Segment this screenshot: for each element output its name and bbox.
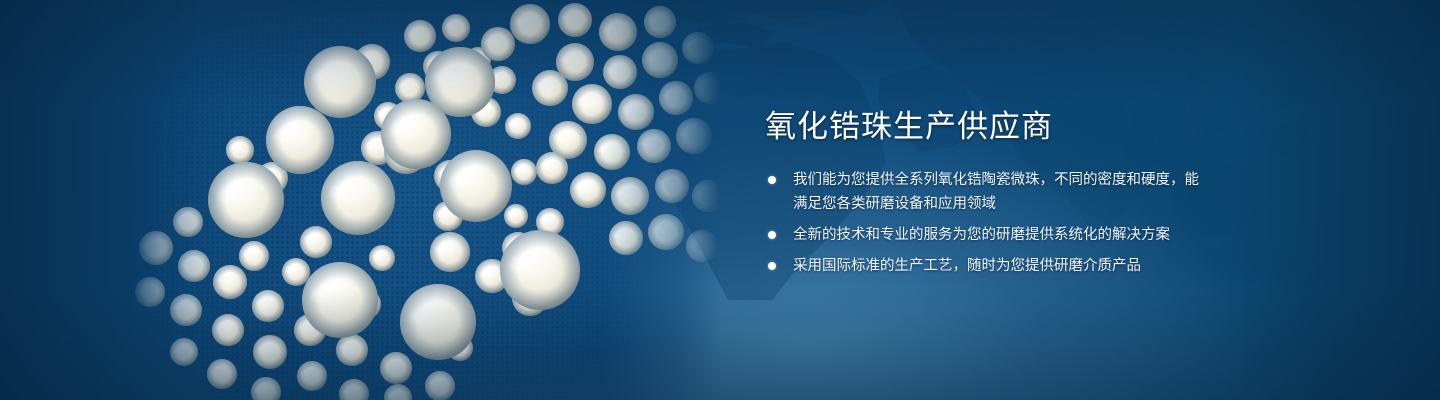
hero-banner: 氧化锆珠生产供应商 我们能为您提供全系列氧化锆陶瓷微珠，不同的密度和硬度，能满足… — [0, 0, 1440, 400]
vignette-overlay — [0, 0, 1440, 400]
